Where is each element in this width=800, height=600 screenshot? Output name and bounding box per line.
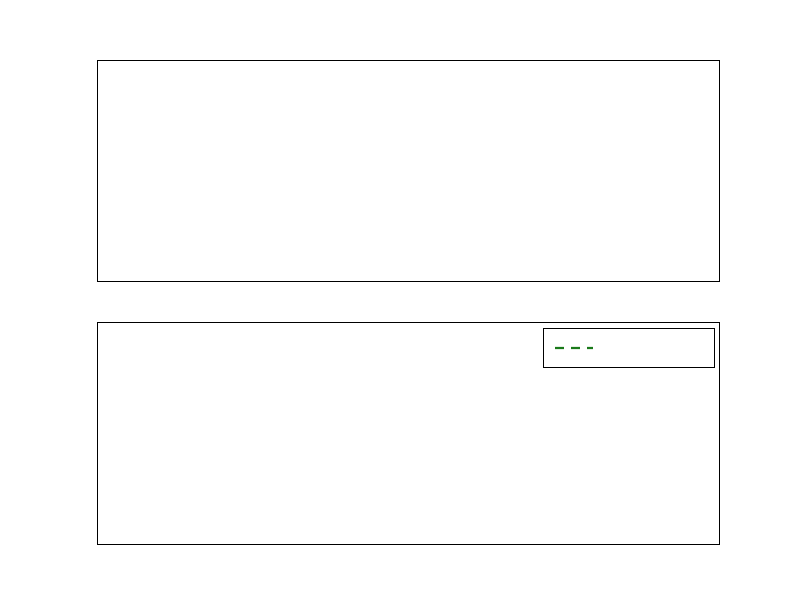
top-histogram-axes: [97, 60, 720, 282]
mag-limit-line-icon: [554, 342, 594, 354]
histogram-plot-area: [98, 61, 719, 281]
figure-canvas: [0, 0, 800, 600]
legend-box: [543, 328, 715, 368]
